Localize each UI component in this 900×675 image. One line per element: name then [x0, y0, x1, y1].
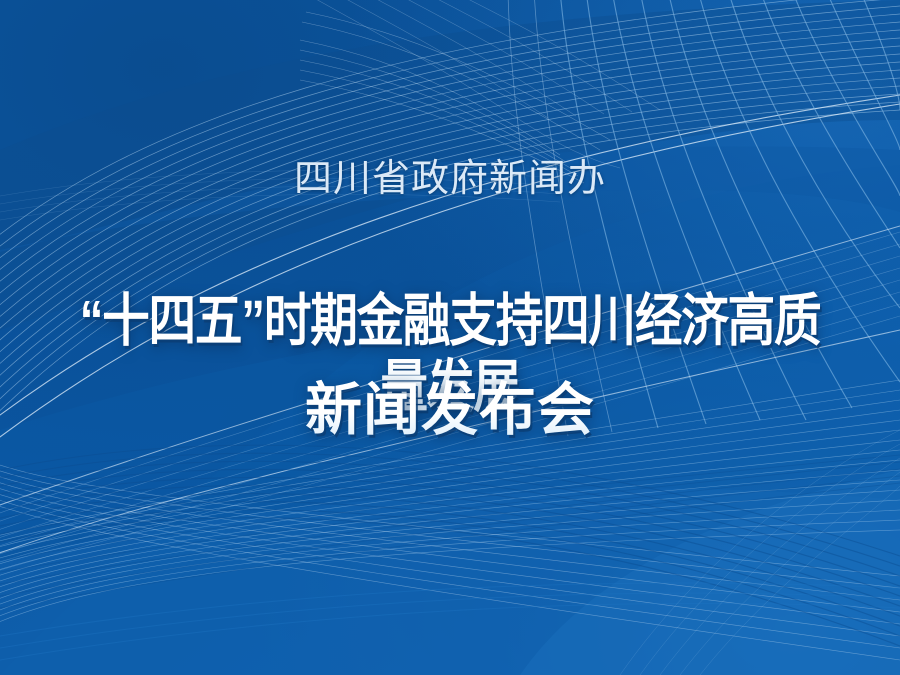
- title-text-block: 四川省政府新闻办 “十四五”时期金融支持四川经济高质量发展 新闻发布会: [0, 0, 900, 675]
- headline-line-1: “十四五”时期金融支持四川经济高质量发展: [74, 288, 826, 420]
- background-line-family-top-right-fan: [0, 0, 900, 675]
- press-conference-backdrop: 四川省政府新闻办 “十四五”时期金融支持四川经济高质量发展 新闻发布会: [0, 0, 900, 675]
- background-sweep-bands: [0, 0, 900, 675]
- background-ribbon-lines-upper: [0, 0, 900, 675]
- background-line-family-upper-left: [0, 0, 900, 675]
- background-line-family-lower-right: [0, 0, 900, 675]
- organization-label: 四川省政府新闻办: [0, 157, 900, 201]
- background-moire-weave: [0, 0, 900, 675]
- headline-line-2: 新闻发布会: [0, 377, 900, 443]
- background-base-gradient: [0, 0, 900, 675]
- background-line-family-lower-left: [0, 0, 900, 675]
